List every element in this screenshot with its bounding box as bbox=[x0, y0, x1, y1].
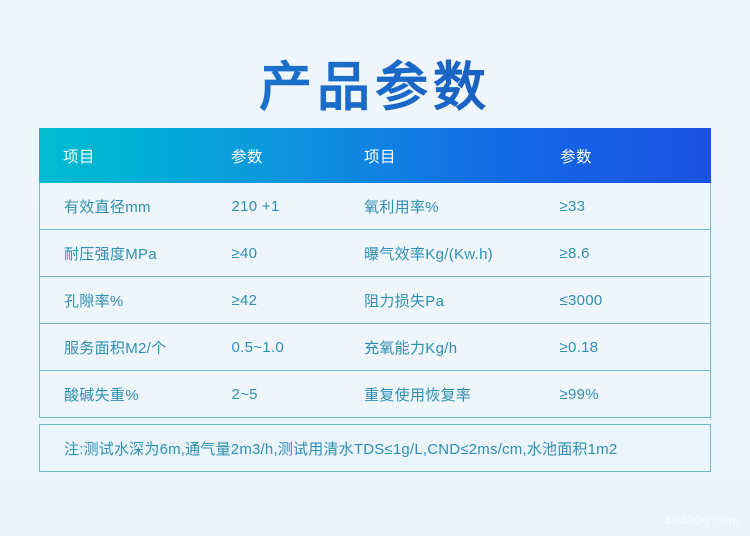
row-value-left: 0.5~1.0 bbox=[231, 339, 364, 356]
row-value-left: 210 +1 bbox=[231, 198, 364, 215]
table-row: 有效直径mm 210 +1 氧利用率% ≥33 bbox=[40, 183, 710, 230]
row-item-left: 服务面积M2/个 bbox=[40, 337, 231, 358]
column-header-item-left: 项目 bbox=[39, 145, 231, 167]
row-value-left: ≥40 bbox=[231, 245, 364, 262]
row-value-right: ≥99% bbox=[559, 386, 710, 403]
row-item-right: 充氧能力Kg/h bbox=[364, 337, 559, 358]
table-footnote-row: 注:测试水深为6m,通气量2m3/h,测试用清水TDS≤1g/L,CND≤2ms… bbox=[39, 424, 711, 472]
table-row: 孔隙率% ≥42 阻力损失Pa ≤3000 bbox=[40, 277, 710, 324]
row-item-left: 耐压强度MPa bbox=[40, 243, 231, 264]
row-item-left: 孔隙率% bbox=[40, 290, 231, 311]
table-row: 耐压强度MPa ≥40 曝气效率Kg/(Kw.h) ≥8.6 bbox=[40, 230, 710, 277]
column-header-value-right: 参数 bbox=[560, 145, 711, 167]
row-value-right: ≥0.18 bbox=[559, 339, 710, 356]
row-item-right: 曝气效率Kg/(Kw.h) bbox=[364, 243, 559, 264]
column-header-value-left: 参数 bbox=[231, 145, 364, 167]
row-value-right: ≥33 bbox=[559, 198, 710, 215]
table-header-row: 项目 参数 项目 参数 bbox=[39, 128, 711, 183]
row-item-right: 重复使用恢复率 bbox=[364, 384, 559, 405]
product-spec-table: 项目 参数 项目 参数 有效直径mm 210 +1 氧利用率% ≥33 耐压强度… bbox=[39, 128, 711, 472]
row-value-right: ≥8.6 bbox=[559, 245, 710, 262]
page-title: 产品参数 bbox=[0, 54, 750, 122]
row-item-left: 有效直径mm bbox=[40, 196, 231, 217]
table-footnote-text: 注:测试水深为6m,通气量2m3/h,测试用清水TDS≤1g/L,CND≤2ms… bbox=[64, 438, 617, 459]
table-body: 有效直径mm 210 +1 氧利用率% ≥33 耐压强度MPa ≥40 曝气效率… bbox=[39, 183, 711, 418]
row-item-right: 阻力损失Pa bbox=[364, 290, 559, 311]
table-row: 服务面积M2/个 0.5~1.0 充氧能力Kg/h ≥0.18 bbox=[40, 324, 710, 371]
table-row: 酸碱失重% 2~5 重复使用恢复率 ≥99% bbox=[40, 371, 710, 418]
row-value-right: ≤3000 bbox=[559, 292, 710, 309]
row-item-left: 酸碱失重% bbox=[40, 384, 231, 405]
row-value-left: 2~5 bbox=[231, 386, 364, 403]
row-value-left: ≥42 bbox=[231, 292, 364, 309]
row-item-right: 氧利用率% bbox=[364, 196, 559, 217]
watermark: 43430g.com bbox=[663, 513, 740, 528]
column-header-item-right: 项目 bbox=[364, 145, 560, 167]
